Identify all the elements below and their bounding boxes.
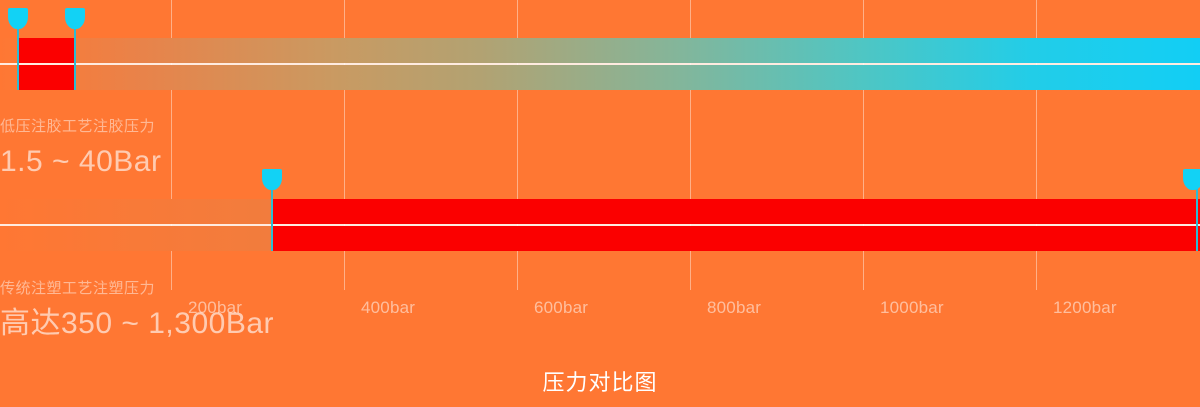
marker-head-icon — [1183, 169, 1200, 190]
annotation-traditional: 传统注塑工艺注塑压力 高达350 ~ 1,300Bar — [0, 280, 274, 343]
bar-traditional-lower — [0, 226, 1200, 251]
bar-gradient-fill — [0, 65, 1200, 90]
annotation-value: 高达350 ~ 1,300Bar — [0, 304, 274, 343]
marker-head-icon — [262, 169, 282, 190]
bar-highlight-segment — [271, 226, 1200, 251]
tick-label-1000: 1000bar — [880, 298, 944, 318]
bar-highlight-segment — [17, 65, 74, 90]
annotation-caption: 低压注胶工艺注胶压力 — [0, 118, 161, 136]
bar-separator-line — [0, 224, 1200, 226]
marker-min-traditional — [271, 169, 273, 251]
bar-traditional-upper — [0, 199, 1200, 224]
annotation-caption: 传统注塑工艺注塑压力 — [0, 280, 274, 298]
marker-head-icon — [8, 8, 28, 29]
bar-highlight-segment — [271, 199, 1200, 224]
bar-lowpressure-lower — [0, 65, 1200, 90]
marker-min-lowpressure — [17, 8, 19, 90]
bar-lowpressure-upper — [0, 38, 1200, 63]
tick-label-600: 600bar — [534, 298, 588, 318]
tick-label-1200: 1200bar — [1053, 298, 1117, 318]
annotation-value: 1.5 ~ 40Bar — [0, 142, 161, 181]
marker-max-traditional — [1196, 169, 1198, 251]
marker-head-icon — [65, 8, 85, 29]
bar-gradient-fill — [0, 38, 1200, 63]
bar-highlight-segment — [17, 38, 74, 63]
pressure-comparison-chart: 200bar 400bar 600bar 800bar 1000bar 1200… — [0, 0, 1200, 407]
bar-separator-line — [0, 63, 1200, 65]
tick-label-400: 400bar — [361, 298, 415, 318]
tick-label-800: 800bar — [707, 298, 761, 318]
chart-title: 压力对比图 — [0, 365, 1200, 397]
marker-max-lowpressure — [74, 8, 76, 90]
annotation-lowpressure: 低压注胶工艺注胶压力 1.5 ~ 40Bar — [0, 118, 161, 181]
